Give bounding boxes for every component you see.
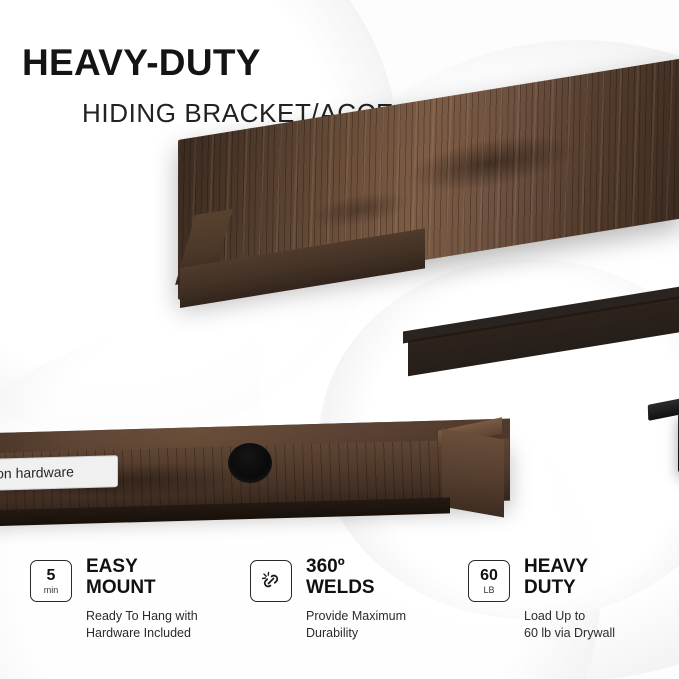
- installation-hardware-label-bottom: ion hardware: [0, 455, 118, 491]
- feature-title-line2: DUTY: [524, 577, 679, 598]
- feature-title-line1: 360º: [306, 556, 481, 577]
- page-title: HEAVY-DUTY: [22, 44, 261, 81]
- badge-unit: LB: [483, 586, 494, 595]
- feature-description: Ready To Hang with Hardware Included: [86, 608, 266, 642]
- feature-description: Load Up to 60 lb via Drywall: [524, 608, 679, 642]
- shelf-photo-top: Installation h: [178, 140, 679, 355]
- feature-description: Provide Maximum Durability: [306, 608, 486, 642]
- badge-value: 60: [480, 568, 498, 584]
- feature-title: 360º WELDS: [306, 556, 481, 599]
- installation-hardware-label-bottom-text: ion hardware: [0, 463, 74, 481]
- bracket-mounting-hole: [228, 443, 272, 483]
- feature-title-line1: HEAVY: [524, 556, 679, 577]
- feature-title-line2: MOUNT: [86, 577, 261, 598]
- badge-5-min: 5 min: [30, 560, 72, 602]
- feature-desc-line1: Load Up to: [524, 608, 679, 625]
- badge-unit: min: [44, 586, 59, 595]
- feature-desc-line2: 60 lb via Drywall: [524, 625, 679, 642]
- badge-60-lb: 60 LB: [468, 560, 510, 602]
- feature-title-line2: WELDS: [306, 577, 481, 598]
- product-infographic: HEAVY-DUTY HIDING BRACKET/ACCESSORY Inst…: [0, 0, 679, 679]
- badge-value: 5: [47, 568, 56, 584]
- shelf-bottom-end-cap: [442, 429, 504, 518]
- feature-row: 5 min EASY MOUNT Ready To Hang with Hard…: [0, 552, 679, 662]
- feature-desc-line2: Durability: [306, 625, 486, 642]
- feature-desc-line1: Ready To Hang with: [86, 608, 266, 625]
- feature-title: EASY MOUNT: [86, 556, 261, 599]
- feature-desc-line1: Provide Maximum: [306, 608, 486, 625]
- feature-desc-line2: Hardware Included: [86, 625, 266, 642]
- feature-title: HEAVY DUTY: [524, 556, 679, 599]
- badge-weld-icon: [250, 560, 292, 602]
- weld-link-icon: [259, 569, 283, 593]
- feature-title-line1: EASY: [86, 556, 261, 577]
